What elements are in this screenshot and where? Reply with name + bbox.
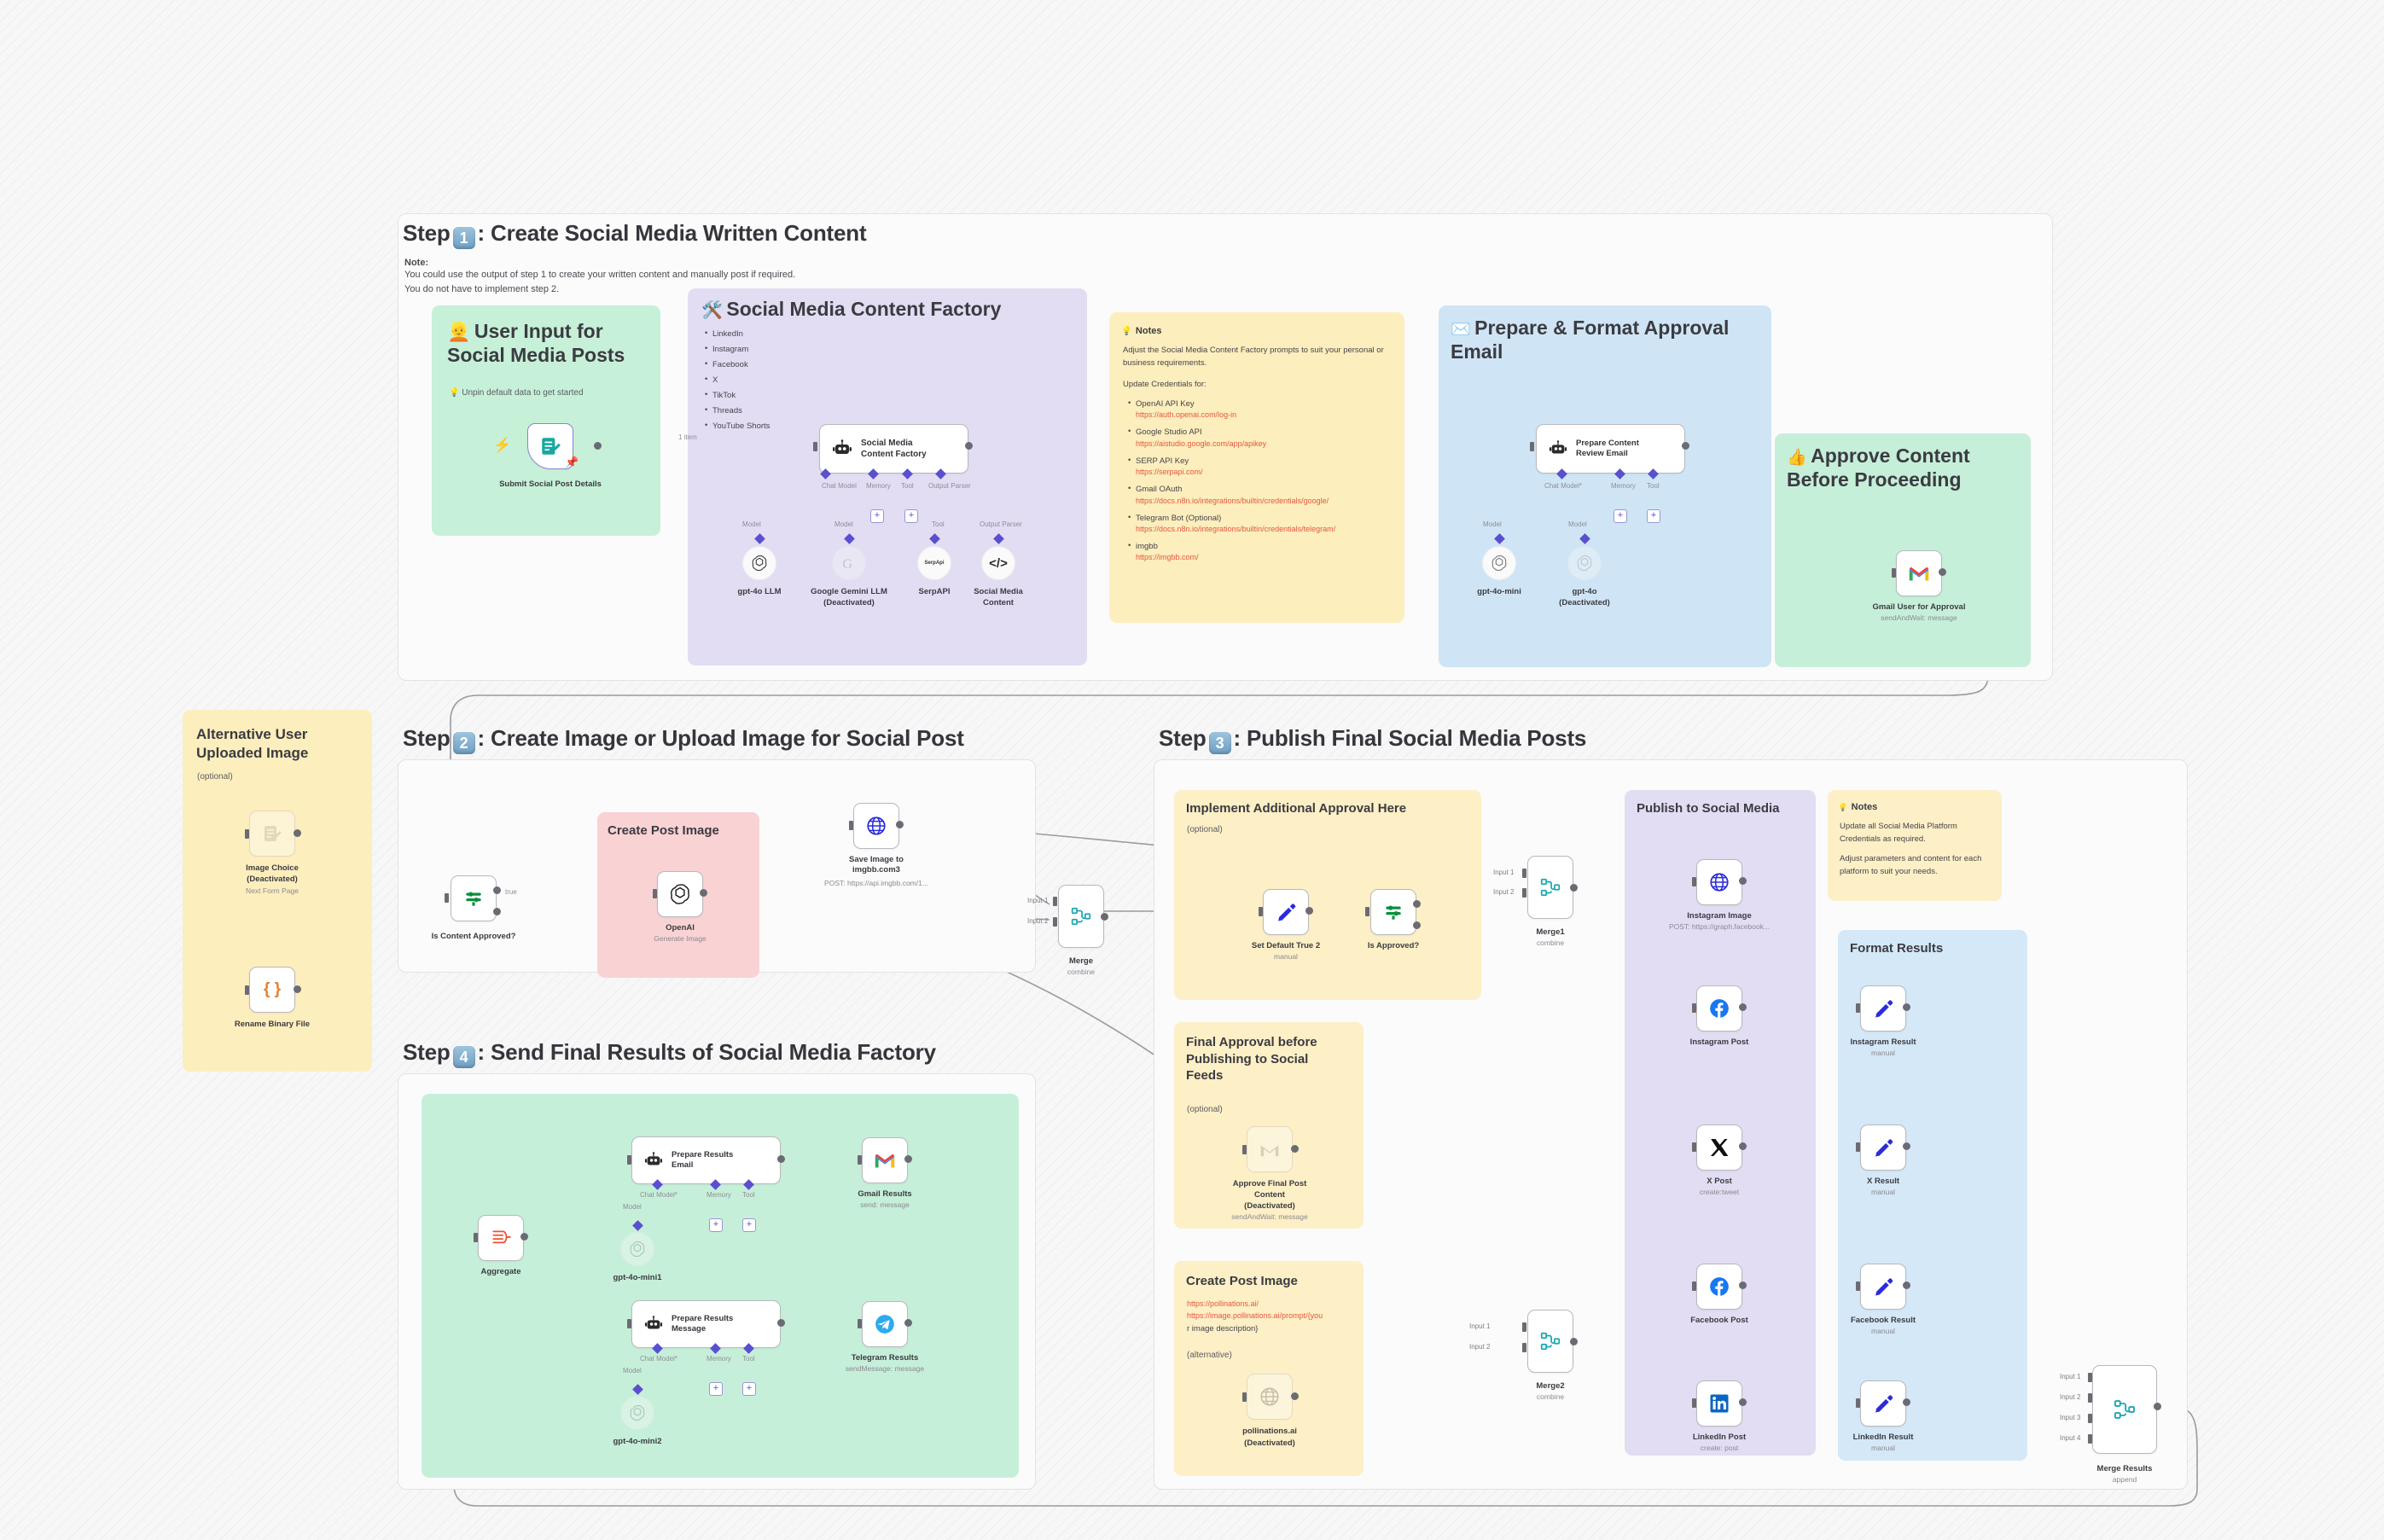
node-image-choice[interactable] [249, 811, 295, 857]
sticky-notes-3-head: 💡 Notes [1838, 799, 1877, 814]
port-out-set-default-true2[interactable] [1305, 907, 1313, 915]
node-label-prepare-results-email: Prepare Results Email [672, 1150, 733, 1171]
conn-label-chat-model-req: Chat Model* [1544, 482, 1582, 490]
node-label-facebook-post: Facebook Post [1690, 1316, 1748, 1326]
node-label-instagram-result: Instagram Result [1850, 1037, 1916, 1048]
conn-label-memory-2: Memory [1611, 482, 1636, 490]
step-1-title-text: : Create Social Media Written Content [478, 220, 867, 246]
telegram-icon [874, 1313, 896, 1335]
robot-icon [1549, 439, 1567, 458]
cred-url[interactable]: https://docs.n8n.io/integrations/builtin… [1126, 496, 1399, 507]
node-sub-merge2: combine [1537, 1392, 1564, 1402]
step-4-badge: 4 [453, 1046, 475, 1068]
step-2-title-text: : Create Image or Upload Image for Socia… [478, 725, 964, 751]
port-in-approve-final[interactable] [1242, 1145, 1247, 1154]
port-out-merge-results[interactable] [2154, 1403, 2161, 1410]
sticky-cpi3-url1[interactable]: https://pollinations.ai/ [1187, 1299, 1358, 1310]
node-label-linkedin-post: LinkedIn Post [1693, 1432, 1746, 1443]
port-in1-merge1[interactable] [1522, 869, 1526, 878]
step-2-badge: 2 [453, 732, 475, 754]
conn-label-model-3: Model [1483, 520, 1502, 528]
openai-icon [629, 1404, 646, 1421]
port-out-telegram-results[interactable] [904, 1319, 912, 1327]
sticky-content-factory-title: Social Media Content Factory [726, 298, 1001, 320]
add-tool-button-4[interactable]: + [742, 1382, 756, 1396]
port-out-true-is-content-approved[interactable] [493, 886, 501, 894]
node-is-approved[interactable] [1370, 889, 1416, 935]
conn-label-memory-4: Memory [706, 1355, 731, 1363]
notes-3-head-text: Notes [1852, 802, 1878, 812]
list-item: X [703, 373, 882, 388]
node-label-pollinations-2: (Deactivated) [1244, 1438, 1295, 1449]
node-label-gpt4o-mini2: gpt-4o-mini2 [613, 1437, 662, 1447]
node-prepare-results-email[interactable]: Prepare Results Email [631, 1136, 781, 1184]
notes-head-text: Notes [1136, 326, 1162, 336]
code-icon: </> [989, 556, 1008, 571]
step-1-label: Step [403, 220, 451, 246]
conn-label-true: true [505, 888, 517, 896]
sticky-publish-social-title: Publish to Social Media [1637, 800, 1780, 817]
conn-label-memory: Memory [866, 482, 891, 490]
node-label-approve-final: Approve Final Post [1233, 1179, 1307, 1189]
code-braces-icon: { } [264, 980, 281, 999]
portlbl-merge1-in1: Input 1 [1493, 869, 1514, 876]
sticky-notes-1-p2: Update Credentials for: [1123, 379, 1391, 392]
port-out-prepare-results-email[interactable] [777, 1155, 785, 1163]
node-merge[interactable] [1058, 885, 1104, 948]
openai-icon [751, 555, 768, 572]
node-sub-instagram-image: POST: https://graph.facebook... [1669, 922, 1770, 932]
gmail-icon [874, 1152, 896, 1169]
node-aggregate[interactable] [478, 1215, 524, 1261]
node-sub-linkedin-result: manual [1871, 1444, 1895, 1453]
node-sub-telegram-results: sendMessage: message [846, 1364, 924, 1374]
port-in1-merge2[interactable] [1522, 1322, 1526, 1332]
node-label-gpt4o-deact: gpt-4o [1572, 587, 1596, 597]
sticky-create-post-image-2-title: Create Post Image [608, 822, 719, 840]
step-2-title: Step2: Create Image or Upload Image for … [403, 725, 964, 754]
port-out-instagram-result[interactable] [1903, 1003, 1910, 1011]
node-openai-generate-image[interactable] [657, 871, 703, 917]
portlbl-merge2-in1: Input 1 [1469, 1322, 1490, 1330]
node-save-image-imgbb[interactable] [853, 803, 899, 849]
step-1-title: Step1: Create Social Media Written Conte… [403, 220, 866, 249]
node-gpt4o-llm[interactable] [742, 546, 776, 580]
node-approve-final[interactable] [1247, 1126, 1293, 1172]
robot-icon [644, 1151, 663, 1170]
node-label-gmail-approval: Gmail User for Approval [1873, 602, 1966, 613]
workflow-canvas[interactable]: Step1: Create Social Media Written Conte… [0, 0, 2384, 1540]
node-label-merge: Merge [1069, 956, 1093, 967]
portlbl-mr-in4: Input 4 [2060, 1434, 2080, 1442]
port-in1-merge[interactable] [1053, 897, 1057, 906]
node-sub-instagram-result: manual [1871, 1049, 1895, 1058]
bulb-icon: 💡 [1121, 327, 1131, 336]
conn-label-model-4: Model [1568, 520, 1587, 528]
node-facebook-result[interactable] [1860, 1264, 1906, 1310]
node-label-submit-post: Submit Social Post Details [499, 479, 602, 490]
edit-icon [1873, 1137, 1894, 1159]
port-out-linkedin-result[interactable] [1903, 1398, 1910, 1406]
pin-icon: 📌 [565, 456, 579, 469]
sticky-user-input-header: 👱 User Input for Social Media Posts [447, 319, 652, 367]
node-instagram-image[interactable] [1696, 859, 1742, 905]
node-label-facebook-result: Facebook Result [1851, 1316, 1916, 1326]
node-x-result[interactable] [1860, 1124, 1906, 1171]
google-icon: G [840, 555, 858, 572]
node-label-x-post: X Post [1707, 1177, 1732, 1187]
port-in2-merge2[interactable] [1522, 1343, 1526, 1352]
node-label-prepare-review-email: Prepare Content Review Email [1576, 439, 1639, 460]
cred-url[interactable]: https://docs.n8n.io/integrations/builtin… [1126, 524, 1399, 535]
conn-label-tool-5: Tool [742, 1191, 755, 1199]
port-in-is-content-approved[interactable] [445, 893, 449, 903]
portlbl-mr-in2: Input 2 [2060, 1393, 2080, 1401]
sticky-prepare-email-header: ✉️ Prepare & Format Approval Email [1451, 316, 1758, 363]
conn-label-tool-2: Tool [932, 520, 945, 528]
port-out-gmail-results[interactable] [904, 1155, 912, 1163]
step-3-title-text: : Publish Final Social Media Posts [1234, 725, 1587, 751]
node-linkedin-result[interactable] [1860, 1380, 1906, 1427]
list-item: Instagram [703, 342, 882, 357]
port-out-submit-post[interactable] [594, 442, 602, 450]
node-label-gpt4o-deact-2: (Deactivated) [1559, 598, 1610, 608]
portlbl-merge1-in2: Input 2 [1493, 888, 1514, 896]
cred-url[interactable]: https://imgbb.com/ [1126, 552, 1399, 563]
cred-url[interactable]: https://auth.openai.com/log-in [1126, 410, 1399, 421]
conn-label-output-parser: Output Parser [928, 482, 971, 490]
node-label-approve-final-2: Content [1254, 1190, 1285, 1200]
port-out-x-post[interactable] [1739, 1142, 1747, 1150]
node-serpapi[interactable]: SerpApi [917, 546, 951, 580]
form-icon [539, 435, 561, 457]
conn-label-model-1: Model [742, 520, 761, 528]
node-label-instagram-post: Instagram Post [1690, 1037, 1749, 1048]
conn-label-chat-model: Chat Model [822, 482, 857, 490]
sticky-prepare-email-title: Prepare & Format Approval Email [1451, 317, 1729, 363]
node-merge-results[interactable] [2092, 1365, 2157, 1454]
x-icon [1709, 1137, 1730, 1158]
node-gpt4o-mini[interactable] [1482, 546, 1516, 580]
node-label-aggregate: Aggregate [481, 1267, 521, 1277]
node-gpt4o-mini2[interactable] [620, 1396, 654, 1430]
step-4-title: Step4: Send Final Results of Social Medi… [403, 1039, 936, 1068]
conn-label-tool-3: Tool [1647, 482, 1660, 490]
conn-label-model-2: Model [834, 520, 853, 528]
node-sub-approve-final: sendAndWait: message [1231, 1212, 1307, 1222]
port-in-pollinations[interactable] [1242, 1392, 1247, 1402]
node-sub-openai-image: Generate Image [654, 934, 706, 944]
form-icon [262, 823, 282, 844]
port-in2-merge[interactable] [1053, 917, 1057, 927]
node-gemini-llm[interactable]: G [832, 546, 866, 580]
sticky-additional-approval[interactable] [1174, 790, 1481, 1000]
sticky-notes-3-p2: Adjust parameters and content for each p… [1840, 853, 1992, 878]
cred-name: Telegram Bot (Optional) [1126, 514, 1399, 524]
step-3-title: Step3: Publish Final Social Media Posts [1159, 725, 1586, 754]
edit-icon [1276, 902, 1297, 923]
node-label-gmail-results: Gmail Results [858, 1189, 911, 1200]
port-out-aggregate[interactable] [520, 1233, 528, 1241]
cred-url[interactable]: https://aistudio.google.com/app/apikey [1126, 439, 1399, 450]
port-out-content-factory[interactable] [965, 442, 973, 450]
sticky-user-input-hint: 💡 Unpin default data to get started [449, 388, 654, 398]
cred-name: imgbb [1126, 542, 1399, 552]
node-instagram-post[interactable] [1696, 985, 1742, 1032]
robot-icon [644, 1315, 663, 1334]
thumbsup-emoji-icon: 👍 [1787, 449, 1807, 467]
sticky-create-post-image-3-title: Create Post Image [1186, 1273, 1298, 1290]
step-2-label: Step [403, 725, 451, 751]
node-sub-merge1: combine [1537, 939, 1564, 948]
portlbl-mr-in3: Input 3 [2060, 1414, 2080, 1421]
conn-label-output-parser-2: Output Parser [980, 520, 1022, 528]
node-label-prepare-results-message: Prepare Results Message [672, 1314, 733, 1335]
lightning-trigger-icon: ⚡ [493, 437, 511, 454]
openai-icon [1576, 555, 1593, 572]
merge-icon [1539, 876, 1561, 898]
node-gpt4o-mini1[interactable] [620, 1232, 654, 1266]
envelope-emoji-icon: ✉️ [1451, 321, 1471, 339]
sticky-cpi3-sub: (alternative) [1187, 1351, 1232, 1360]
node-prepare-results-message[interactable]: Prepare Results Message [631, 1300, 781, 1348]
sticky-user-input-title: User Input for Social Media Posts [447, 320, 625, 366]
conn-label-tool-7: Tool [742, 1355, 755, 1363]
sticky-alt-upload-sub: (optional) [197, 772, 233, 782]
node-prepare-review-email[interactable]: Prepare Content Review Email [1536, 424, 1685, 474]
sticky-approve-content-header: 👍 Approve Content Before Proceeding [1787, 444, 2026, 491]
sticky-additional-approval-title: Implement Additional Approval Here [1186, 800, 1406, 817]
node-sub-x-result: manual [1871, 1188, 1895, 1197]
node-telegram-results[interactable] [862, 1301, 908, 1347]
node-label-content-factory: Social Media Content Factory [861, 438, 927, 460]
node-sub-linkedin-post: create: post [1701, 1444, 1738, 1453]
sticky-notes-1-creds: OpenAI API Keyhttps://auth.openai.com/lo… [1126, 399, 1399, 570]
port-out-x-result[interactable] [1903, 1142, 1910, 1150]
port-out-save-imgbb[interactable] [896, 821, 904, 828]
sticky-final-approval-title: Final Approval before Publishing to Soci… [1186, 1034, 1348, 1084]
sticky-cpi3-url2[interactable]: https://image.pollinations.ai/prompt/{yo… [1187, 1310, 1358, 1322]
portlbl-merge-in2: Input 2 [1027, 917, 1048, 925]
node-label-social-content: Social Media [974, 587, 1023, 597]
node-label-serpapi: SerpAPI [919, 587, 951, 597]
port-out-prepare-review[interactable] [1682, 442, 1689, 450]
openai-icon [629, 1241, 646, 1258]
node-label-merge1: Merge1 [1536, 927, 1564, 938]
node-x-post[interactable] [1696, 1124, 1742, 1171]
node-rename-binary[interactable]: { } [249, 967, 295, 1013]
sticky-format-results-title: Format Results [1850, 940, 1943, 957]
add-tool-button-3[interactable]: + [742, 1218, 756, 1232]
cred-url[interactable]: https://serpapi.com/ [1126, 467, 1399, 478]
node-label-merge2: Merge2 [1536, 1381, 1564, 1392]
port-out-true-is-approved[interactable] [1413, 900, 1421, 908]
node-label-image-choice: Image Choice [246, 863, 299, 874]
add-memory-button[interactable]: + [870, 509, 884, 523]
sticky-notes-1-p1: Adjust the Social Media Content Factory … [1123, 345, 1391, 369]
globe-icon [1259, 1386, 1281, 1408]
node-label-instagram-image: Instagram Image [1687, 911, 1752, 921]
portlbl-merge-in1: Input 1 [1027, 897, 1048, 904]
cred-name: SERP API Key [1126, 456, 1399, 467]
conn-label-chat-model-req-3: Chat Model* [640, 1355, 677, 1363]
sticky-notes-3-p1: Update all Social Media Platform Credent… [1840, 821, 1992, 846]
sticky-approve-content-title: Approve Content Before Proceeding [1787, 445, 1970, 491]
node-sub-save-imgbb: POST: https://api.imgbb.com/1... [821, 879, 932, 888]
svg-text:G: G [843, 557, 852, 572]
node-sub-x-post: create:tweet [1700, 1188, 1739, 1197]
node-label-social-content-2: Content [983, 598, 1014, 608]
bulb-icon: 💡 [1838, 803, 1847, 811]
node-label-merge-results: Merge Results [2097, 1464, 2153, 1474]
conn-label-model-5: Model [623, 1203, 642, 1211]
add-memory-button-4[interactable]: + [709, 1382, 723, 1396]
port-out-merge2[interactable] [1570, 1338, 1578, 1345]
merge-icon [2113, 1398, 2137, 1421]
sticky-alt-upload-title: Alternative User Uploaded Image [196, 725, 358, 763]
node-social-content-parser[interactable]: </> [981, 546, 1015, 580]
port-in-image-choice[interactable] [245, 829, 249, 839]
port-out-gmail-approval[interactable] [1939, 568, 1946, 576]
port-out-prepare-results-message[interactable] [777, 1319, 785, 1327]
sticky-final-approval-sub: (optional) [1187, 1105, 1223, 1114]
node-label-gpt4o-mini1: gpt-4o-mini1 [613, 1273, 662, 1283]
sticky-notes-1-head: 💡 Notes [1121, 323, 1161, 338]
node-merge2[interactable] [1527, 1310, 1573, 1373]
facebook-icon [1708, 1276, 1730, 1298]
node-label-linkedin-result: LinkedIn Result [1853, 1432, 1914, 1443]
portlbl-mr-in1: Input 1 [2060, 1373, 2080, 1380]
node-instagram-result[interactable] [1860, 985, 1906, 1032]
node-sub-set-default-true2: manual [1274, 952, 1298, 962]
sticky-content-factory-header: 🛠️ Social Media Content Factory [701, 297, 1077, 321]
port-out-instagram-post[interactable] [1739, 1003, 1747, 1011]
add-memory-button-2[interactable]: + [1614, 509, 1627, 523]
merge-icon [1539, 1330, 1561, 1352]
filter-icon [1382, 901, 1404, 923]
step-3-badge: 3 [1209, 732, 1231, 754]
openai-icon [669, 883, 691, 905]
add-memory-button-3[interactable]: + [709, 1218, 723, 1232]
port-out-pollinations[interactable] [1291, 1392, 1299, 1400]
node-label-gpt4o-llm: gpt-4o LLM [737, 587, 781, 597]
aggregate-icon [490, 1227, 512, 1249]
port-out-false-is-approved[interactable] [1413, 921, 1421, 929]
node-label-openai-image: OpenAI [666, 923, 695, 933]
port-in-prepare-review[interactable] [1530, 442, 1534, 451]
serpapi-icon: SerpApi [924, 561, 944, 566]
cred-name: Google Studio API [1126, 427, 1399, 438]
node-label-gemini-llm-deact: (Deactivated) [823, 598, 875, 608]
node-label-gpt4o-mini: gpt-4o-mini [1477, 587, 1521, 597]
tools-emoji-icon: 🛠️ [701, 301, 723, 320]
linkedin-icon [1709, 1393, 1730, 1414]
list-item: Facebook [703, 357, 882, 373]
node-label-is-approved: Is Approved? [1368, 941, 1419, 951]
globe-icon [865, 815, 887, 837]
node-label-pollinations: pollinations.ai [1242, 1427, 1297, 1437]
port-out-instagram-image[interactable] [1739, 877, 1747, 885]
conn-label-tool: Tool [901, 482, 914, 490]
node-label-gemini-llm: Google Gemini LLM [811, 587, 887, 597]
port-out-facebook-result[interactable] [1903, 1281, 1910, 1289]
port-out-image-choice[interactable] [294, 829, 301, 837]
edit-icon [1873, 998, 1894, 1020]
node-sub-gmail-approval: sendAndWait: message [1881, 613, 1957, 623]
port-out-merge1[interactable] [1570, 884, 1578, 892]
node-label-set-default-true2: Set Default True 2 [1252, 941, 1320, 951]
conn-label-model-6: Model [623, 1367, 642, 1374]
node-pollinations[interactable] [1247, 1374, 1293, 1420]
node-label-image-choice-2: (Deactivated) [247, 875, 298, 885]
edit-icon [1873, 1393, 1894, 1415]
conn-label-items: 1 item [678, 433, 697, 441]
conn-label-memory-3: Memory [706, 1191, 731, 1199]
port-out-rename-binary[interactable] [294, 985, 301, 993]
node-linkedin-post[interactable] [1696, 1380, 1742, 1427]
node-content-factory[interactable]: Social Media Content Factory [819, 424, 968, 474]
filter-icon [462, 887, 485, 909]
step-3-label: Step [1159, 725, 1207, 751]
gmail-icon [1259, 1142, 1280, 1158]
node-label-telegram-results: Telegram Results [852, 1353, 919, 1363]
node-label-approve-final-3: (Deactivated) [1244, 1201, 1295, 1212]
node-sub-image-choice: Next Form Page [246, 886, 299, 896]
list-item: Threads [703, 404, 882, 419]
robot-icon [832, 439, 852, 459]
port-in-content-factory[interactable] [813, 442, 817, 451]
edit-icon [1873, 1276, 1894, 1298]
node-label-x-result: X Result [1867, 1177, 1899, 1187]
node-sub-merge: combine [1067, 968, 1095, 977]
sticky-additional-approval-sub: (optional) [1187, 825, 1223, 834]
node-label-rename-binary: Rename Binary File [235, 1020, 310, 1030]
port-in-is-approved[interactable] [1365, 907, 1369, 916]
person-emoji-icon: 👱 [447, 321, 470, 342]
node-merge1[interactable] [1527, 856, 1573, 919]
node-facebook-post[interactable] [1696, 1264, 1742, 1310]
sticky-cpi3-url3: r image description} [1187, 1323, 1358, 1336]
port-out-merge[interactable] [1101, 913, 1108, 921]
add-tool-button[interactable]: + [904, 509, 918, 523]
sticky-content-factory-list: LinkedIn Instagram Facebook X TikTok Thr… [703, 327, 882, 434]
step-4-title-text: : Send Final Results of Social Media Fac… [478, 1039, 936, 1065]
port-out-false-is-content-approved[interactable] [493, 908, 501, 915]
port-in2-merge1[interactable] [1522, 888, 1526, 898]
node-gmail-approval[interactable] [1896, 550, 1942, 596]
node-gpt4o-deact[interactable] [1567, 546, 1602, 580]
node-gmail-results[interactable] [862, 1137, 908, 1183]
list-item: LinkedIn [703, 327, 882, 342]
step-1-badge: 1 [453, 227, 475, 249]
node-label-save-imgbb: Save Image to imgbb.com3 [834, 855, 919, 875]
port-out-linkedin-post[interactable] [1739, 1398, 1747, 1406]
node-sub-gmail-results: send: message [860, 1200, 910, 1210]
globe-icon [1708, 871, 1730, 893]
cred-name: Gmail OAuth [1126, 485, 1399, 495]
add-tool-button-2[interactable]: + [1647, 509, 1660, 523]
merge-icon [1070, 905, 1092, 927]
list-item: TikTok [703, 388, 882, 404]
port-in-rename-binary[interactable] [245, 985, 249, 995]
port-out-facebook-post[interactable] [1739, 1281, 1747, 1289]
port-out-approve-final[interactable] [1291, 1145, 1299, 1153]
port-out-openai-image[interactable] [700, 889, 707, 897]
portlbl-merge2-in2: Input 2 [1469, 1343, 1490, 1351]
node-set-default-true2[interactable] [1263, 889, 1309, 935]
facebook-icon [1708, 997, 1730, 1020]
node-is-content-approved[interactable] [451, 875, 497, 921]
